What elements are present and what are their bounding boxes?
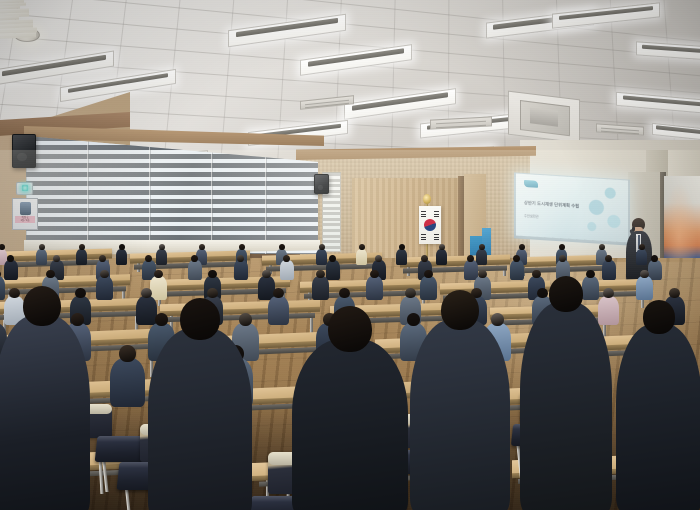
list-item xyxy=(76,244,87,266)
list-item xyxy=(36,244,47,266)
audience-member-head xyxy=(283,255,290,262)
audience-member-head xyxy=(375,255,382,262)
flag-taeguk-icon xyxy=(424,219,436,231)
audience-member-head xyxy=(478,270,486,278)
audience-member-head xyxy=(439,244,445,250)
list-item xyxy=(268,288,289,328)
audience-member-head xyxy=(424,270,432,278)
audience-member-body xyxy=(234,260,248,279)
audience-member-head xyxy=(7,255,14,262)
audience-member-head xyxy=(328,306,372,352)
audience-member-head xyxy=(180,298,220,340)
audience-member-head xyxy=(370,270,378,278)
audience-member-head xyxy=(519,244,525,250)
audience-member-head xyxy=(53,255,60,262)
audience-member-body xyxy=(188,260,202,279)
audience-member-head xyxy=(100,270,108,278)
audience-member-body xyxy=(0,315,90,510)
audience-member-head xyxy=(669,288,680,299)
audience-member-foreground xyxy=(148,298,252,510)
audience-member-head xyxy=(599,244,605,250)
korean-flag xyxy=(419,206,441,244)
list-item xyxy=(96,270,113,302)
audience-member-head xyxy=(239,244,245,250)
window-slat xyxy=(323,235,340,238)
list-item xyxy=(356,244,367,266)
audience-member-head xyxy=(605,255,612,262)
list-item xyxy=(436,244,447,266)
audience-member-foreground xyxy=(520,276,612,510)
audience-member-head xyxy=(208,270,216,278)
audience-member-head xyxy=(191,255,198,262)
list-item xyxy=(396,244,407,266)
audience-member-head xyxy=(79,244,85,250)
audience-member-body xyxy=(4,260,18,279)
audience-member-body xyxy=(116,249,127,265)
list-item xyxy=(234,255,248,281)
audience-member-head xyxy=(549,276,583,312)
audience-member-body xyxy=(366,276,383,300)
audience-member-body xyxy=(312,276,329,300)
window-slat xyxy=(323,212,340,215)
audience-member-body xyxy=(36,249,47,265)
window-slat xyxy=(323,195,340,198)
audience-member-head xyxy=(640,270,648,278)
audience-member-head xyxy=(141,288,152,299)
audience-member-head xyxy=(421,255,428,262)
audience-member-head xyxy=(199,244,205,250)
audience-member-head xyxy=(559,255,566,262)
window-slat xyxy=(323,201,340,204)
list-item xyxy=(110,345,145,411)
microphone-icon xyxy=(632,227,635,231)
list-item xyxy=(280,255,294,281)
audience-member-head xyxy=(339,288,350,299)
window-slat xyxy=(323,223,340,226)
audience-member-body xyxy=(520,302,612,510)
list-item xyxy=(476,244,487,266)
audience-member-body xyxy=(436,249,447,265)
audience-member-body xyxy=(76,249,87,265)
wall-speaker-center xyxy=(314,174,329,194)
audience-member-foreground xyxy=(292,306,408,510)
audience-member-body xyxy=(156,249,167,265)
audience-member-head xyxy=(23,286,61,326)
audience-member-head xyxy=(0,244,5,250)
list-item xyxy=(312,270,329,302)
audience-member-head xyxy=(145,255,152,262)
audience-member-body xyxy=(110,358,145,406)
audience-member-head xyxy=(279,244,285,250)
audience-member-head xyxy=(513,255,520,262)
flag-finial-icon xyxy=(423,194,431,204)
audience-member-head xyxy=(159,244,165,250)
notice-sign: 비상구 1상 / 1통 xyxy=(12,198,38,230)
audience-member-head xyxy=(119,345,136,362)
ac-cassette-right xyxy=(508,91,580,144)
window-slat xyxy=(323,218,340,221)
audience-member-body xyxy=(476,249,487,265)
audience-member-body xyxy=(268,296,289,325)
notice-sign-subtext: 1상 / 1통 xyxy=(15,219,35,222)
audience-member-body xyxy=(636,276,653,300)
audience-member-body xyxy=(396,249,407,265)
audience-member-foreground xyxy=(616,300,700,510)
emergency-light-indicator xyxy=(16,182,33,195)
list-item xyxy=(156,244,167,266)
audience-member-head xyxy=(639,244,645,250)
list-item xyxy=(366,270,383,302)
audience-member-head xyxy=(651,255,658,262)
audience-member-head xyxy=(479,244,485,250)
list-item xyxy=(116,244,127,266)
window-slat xyxy=(323,207,340,210)
audience-member-head xyxy=(46,270,54,278)
audience-member-head xyxy=(329,255,336,262)
seminar-room-photo: 비상구 1상 / 1통 상반기 도시재생 단위계획 수립 주반생활관 xyxy=(0,0,700,510)
audience-member-head xyxy=(39,244,45,250)
audience-member-head xyxy=(207,288,218,299)
audience-member-head xyxy=(262,270,270,278)
audience-member-body xyxy=(96,276,113,300)
audience-member-head xyxy=(399,244,405,250)
audience-member-body xyxy=(148,328,252,510)
audience-member-body xyxy=(280,260,294,279)
audience-member-body xyxy=(636,249,647,265)
wall-speaker-left xyxy=(12,134,36,168)
audience-member-body xyxy=(616,324,700,510)
audience-member-foreground xyxy=(410,290,510,510)
window-slat xyxy=(323,229,340,232)
audience-member-head xyxy=(154,270,162,278)
audience-member-head xyxy=(467,255,474,262)
list-item xyxy=(636,270,653,302)
list-item xyxy=(636,244,647,266)
audience-member-head xyxy=(559,244,565,250)
audience-member-head xyxy=(441,290,479,330)
audience-member-body xyxy=(410,319,510,510)
audience-member-head xyxy=(119,244,125,250)
notice-sign-icon xyxy=(20,202,31,215)
audience-member-body xyxy=(292,339,408,510)
audience-member-head xyxy=(99,255,106,262)
projection-screen-sheen xyxy=(516,173,628,242)
audience-member-head xyxy=(643,300,675,334)
audience-member-foreground xyxy=(0,286,90,510)
audience-member-head xyxy=(237,255,244,262)
audience-member-head xyxy=(273,288,284,299)
list-item xyxy=(4,255,18,281)
audience-member-head xyxy=(316,270,324,278)
window-slat xyxy=(323,240,340,243)
audience-member-head xyxy=(319,244,325,250)
audience-member-body xyxy=(356,249,367,265)
paper-handout xyxy=(0,32,36,38)
audience-member-head xyxy=(359,244,365,250)
list-item xyxy=(188,255,202,281)
